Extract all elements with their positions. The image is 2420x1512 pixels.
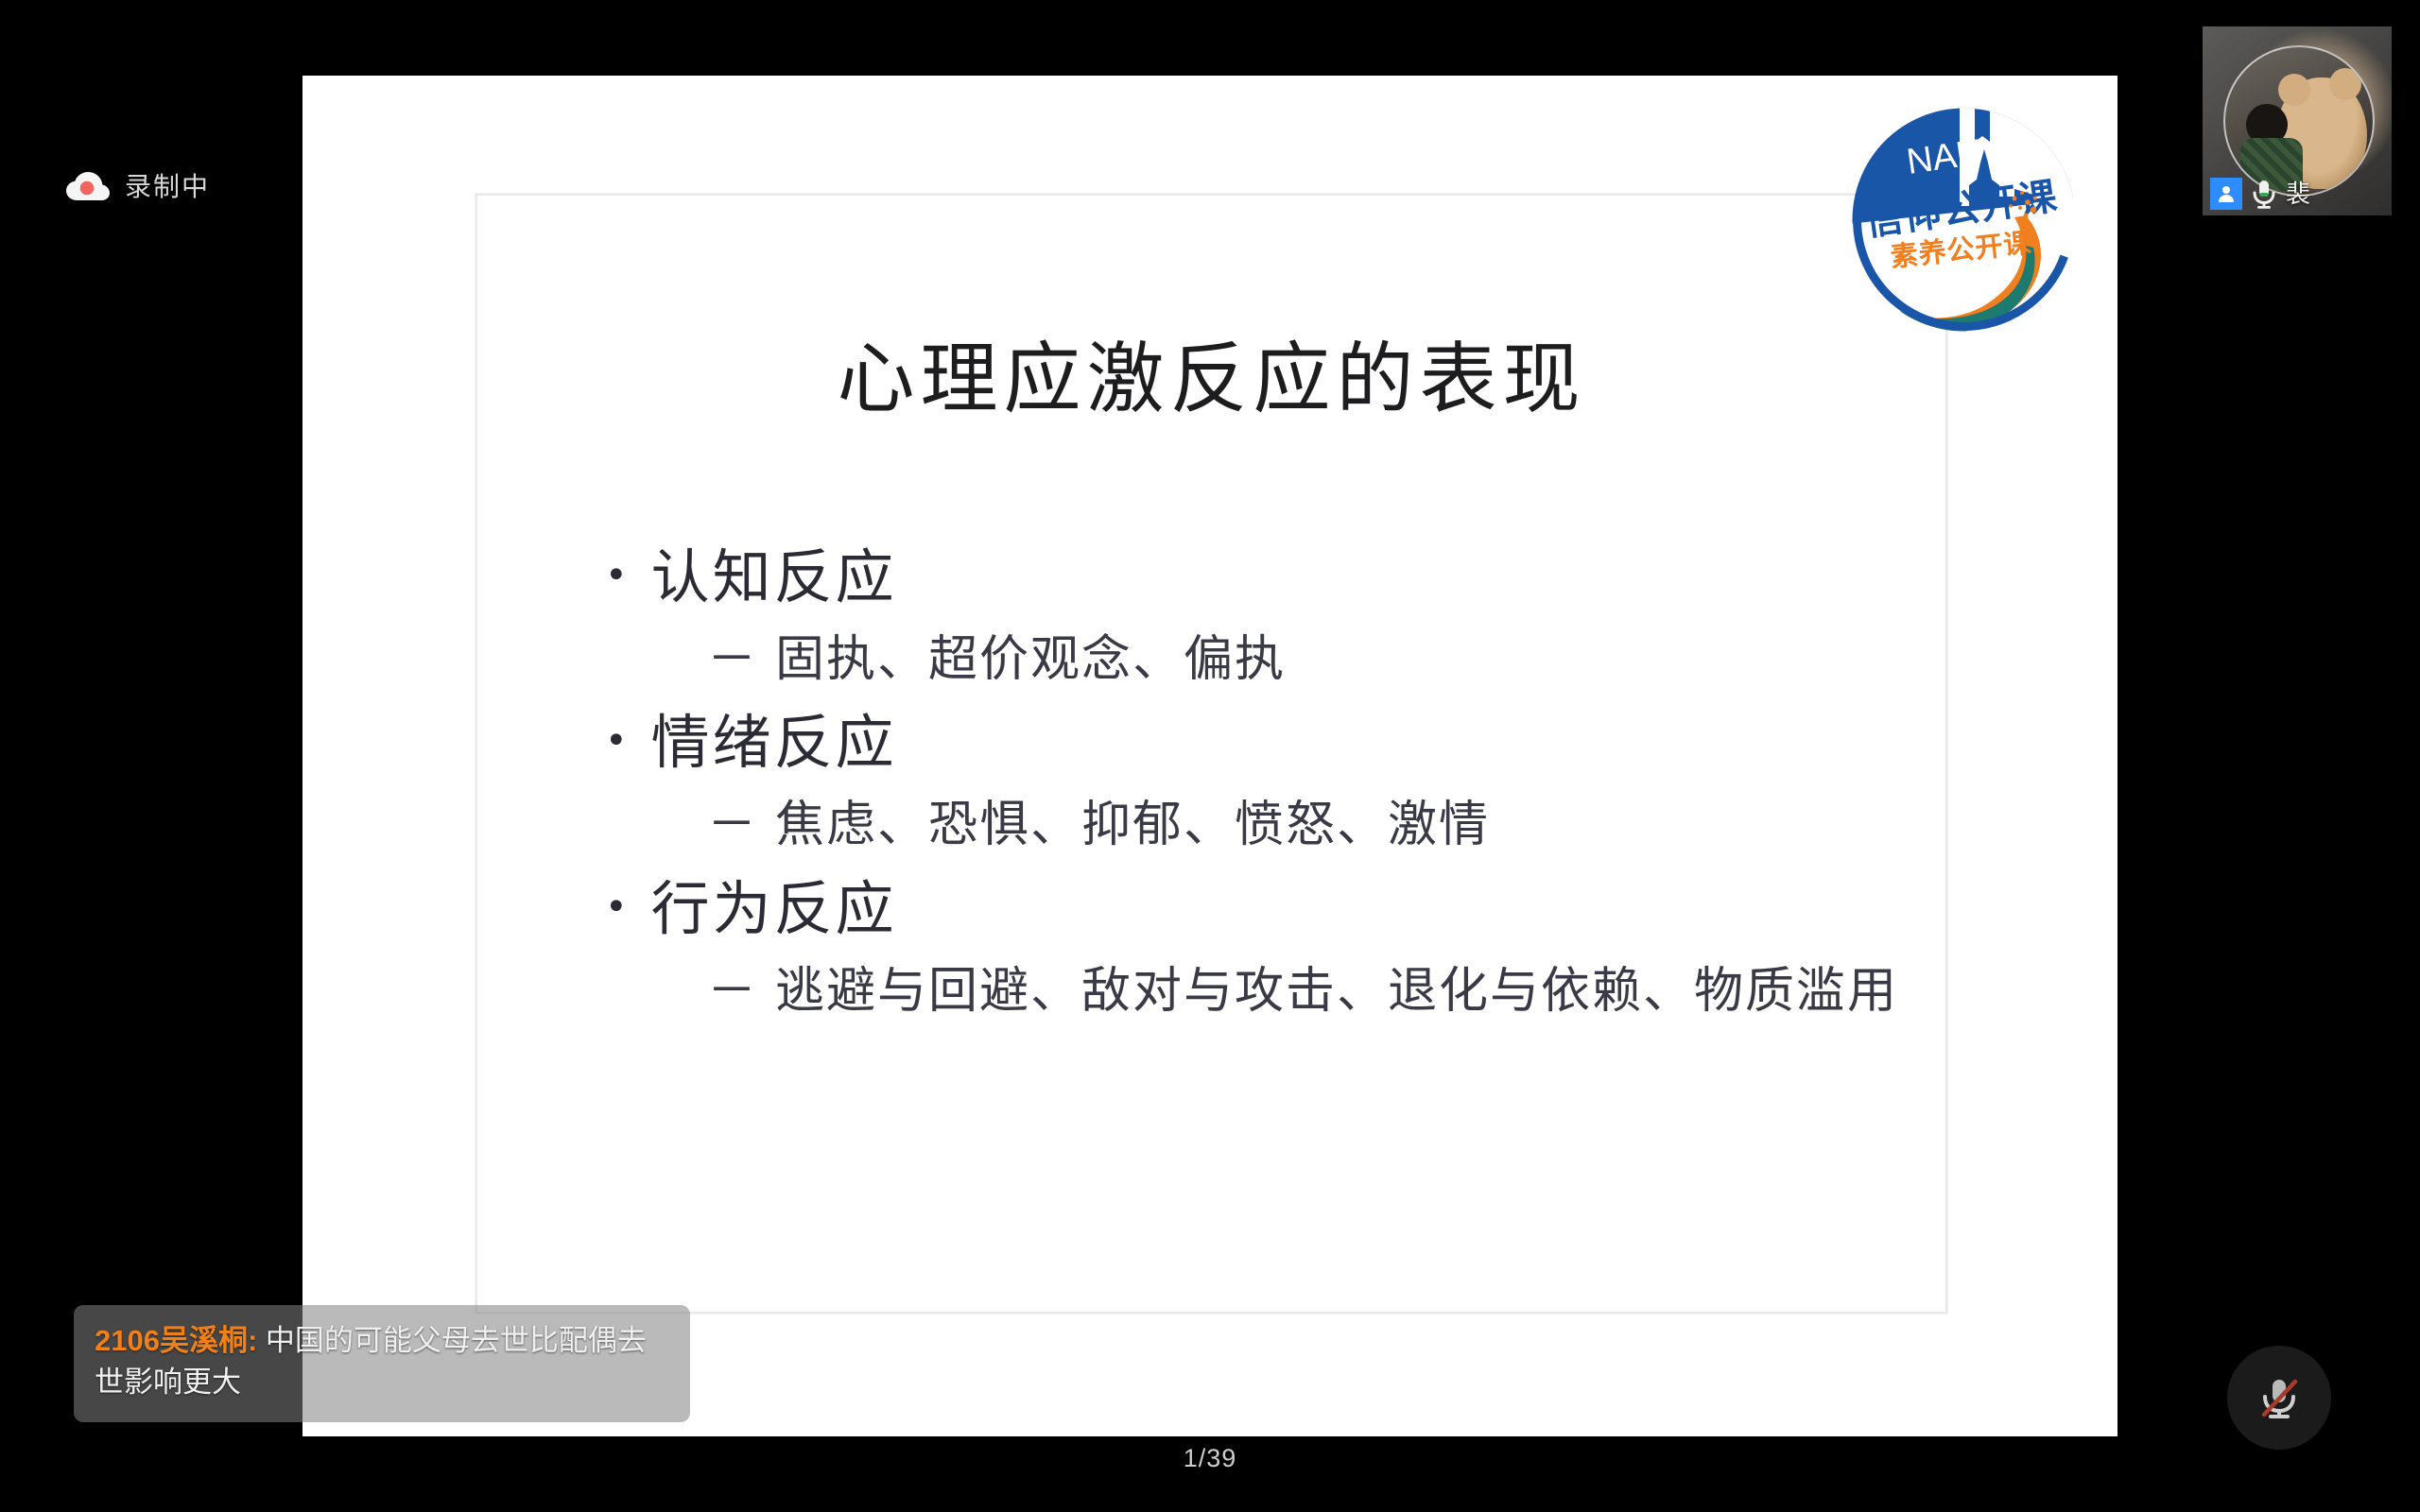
chat-sender-name: 2106吴溪桐:	[95, 1324, 257, 1357]
dash-marker-icon: －	[707, 956, 758, 1027]
bullet-item: • 认知反应	[605, 536, 1908, 619]
bullet-subitem-text: 固执、超价观念、偏执	[775, 625, 1286, 696]
bullet-marker-icon: •	[605, 722, 631, 760]
bullet-group-3: • 行为反应 － 逃避与回避、敌对与攻击、退化与依赖、物质滥用	[605, 868, 1908, 1027]
participant-name: 裴	[2286, 181, 2310, 206]
bullet-subitem: － 焦虑、恐惧、抑郁、愤怒、激情	[707, 790, 1908, 861]
mute-microphone-button[interactable]	[2227, 1346, 2331, 1450]
microphone-muted-icon	[2252, 1370, 2307, 1425]
page-indicator: 1/39	[0, 1444, 2420, 1473]
cloud-record-icon	[66, 172, 110, 202]
bullet-item: • 情绪反应	[605, 701, 1908, 784]
bullet-item: • 行为反应	[605, 868, 1908, 951]
microphone-icon	[2250, 178, 2278, 210]
bullet-subitem-text: 逃避与回避、敌对与攻击、退化与依赖、物质滥用	[775, 956, 1898, 1027]
chat-message: 2106吴溪桐: 中国的可能父母去世比配偶去世影响更大	[95, 1320, 669, 1403]
bullet-group-1: • 认知反应 － 固执、超价观念、偏执	[605, 536, 1908, 696]
dash-marker-icon: －	[707, 625, 758, 696]
bullet-marker-icon: •	[605, 888, 631, 926]
participant-thumbnail[interactable]: 裴	[2203, 26, 2392, 215]
slide-canvas[interactable]: 心理应激反应的表现 • 认知反应 － 固执、超价观念、偏执 • 情绪反应 －	[302, 76, 2117, 1436]
bullet-subitem: － 逃避与回避、敌对与攻击、退化与依赖、物质滥用	[707, 956, 1908, 1027]
bullet-label: 行为反应	[651, 868, 897, 951]
slide-content-frame: 心理应激反应的表现 • 认知反应 － 固执、超价观念、偏执 • 情绪反应 －	[475, 194, 1947, 1314]
bullet-group-2: • 情绪反应 － 焦虑、恐惧、抑郁、愤怒、激情	[605, 701, 1908, 861]
slide-bullet-list: • 认知反应 － 固执、超价观念、偏执 • 情绪反应 － 焦虑、恐惧、抑郁、愤怒…	[605, 536, 1908, 1033]
participant-info-bar: 裴	[2203, 172, 2392, 215]
recording-indicator: 录制中	[66, 172, 210, 202]
nau-open-course-logo: NAU 信仰公开课 素养公开课	[1848, 104, 2080, 335]
bullet-subitem: － 固执、超价观念、偏执	[707, 625, 1908, 696]
recording-label: 录制中	[125, 174, 210, 200]
bullet-marker-icon: •	[605, 557, 631, 594]
chat-message-toast: 2106吴溪桐: 中国的可能父母去世比配偶去世影响更大	[74, 1305, 690, 1422]
bullet-subitem-text: 焦虑、恐惧、抑郁、愤怒、激情	[775, 790, 1490, 861]
person-icon	[2210, 178, 2242, 210]
bullet-label: 认知反应	[651, 536, 897, 619]
slide-title: 心理应激反应的表现	[477, 337, 1945, 422]
dash-marker-icon: －	[707, 790, 758, 861]
bullet-label: 情绪反应	[651, 701, 897, 784]
